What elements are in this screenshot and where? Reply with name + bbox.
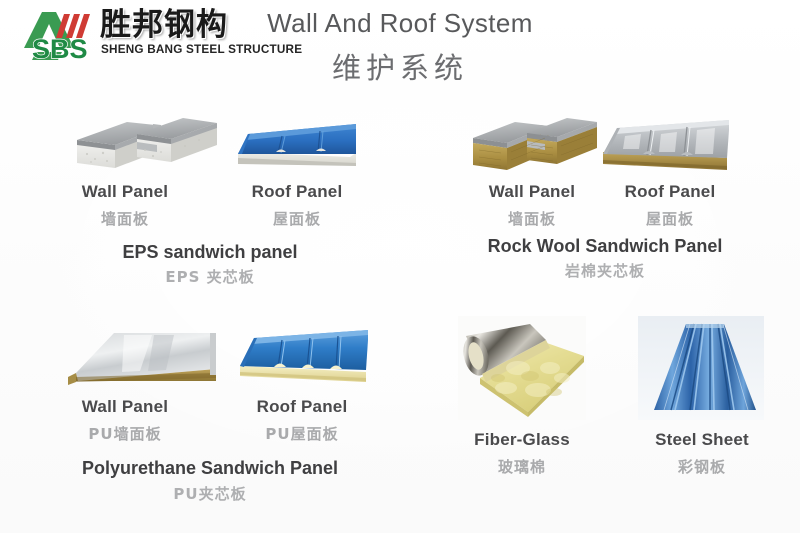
fiber-glass-image [458,316,586,420]
product-group-rockwool: Wall Panel 墙面板 Roof Panel 屋面板 Rock Wool … [410,0,800,290]
pu-roof-panel-image [234,326,374,392]
group-title-en-pu: Polyurethane Sandwich Panel [10,458,410,479]
caption-en-steel-sheet: Steel Sheet [622,430,782,450]
rockwool-roof-panel-image [595,116,735,182]
group-title-en-eps: EPS sandwich panel [20,242,400,263]
group-title-cn-pu: PU夹芯板 [10,483,410,504]
pu-wall-panel-image [62,325,220,391]
caption-cn-rockwool-wall: 墙面板 [452,208,612,229]
caption-cn-pu-wall: PU墙面板 [45,423,205,444]
caption-cn-eps-roof: 屋面板 [217,208,377,229]
caption-en-eps-roof: Roof Panel [217,182,377,202]
svg-text:18'-6" x 14': 18'-6" x 14' [307,289,332,300]
caption-en-fiber-glass: Fiber-Glass [442,430,602,450]
steel-sheet-image [638,316,764,420]
eps-wall-panel-image [65,112,220,182]
caption-cn-eps-wall: 墙面板 [45,208,205,229]
slide-canvas: GARAGE LIVING RM 18'-6" x 14' PORCH SECT… [0,0,800,533]
group-title-cn-rockwool: 岩棉夹芯板 [420,260,790,281]
caption-cn-fiber-glass: 玻璃棉 [442,456,602,477]
caption-en-pu-wall: Wall Panel [45,397,205,417]
caption-en-pu-roof: Roof Panel [222,397,382,417]
group-title-en-rockwool: Rock Wool Sandwich Panel [420,236,790,257]
eps-roof-panel-image [232,118,362,180]
rockwool-wall-panel-image [465,112,600,182]
product-group-pu: Wall Panel PU墙面板 Roof Panel PU屋面板 Polyur… [0,300,420,533]
caption-en-eps-wall: Wall Panel [45,182,205,202]
caption-cn-steel-sheet: 彩钢板 [622,456,782,477]
caption-en-rockwool-roof: Roof Panel [590,182,750,202]
group-title-cn-eps: EPS 夹芯板 [20,266,400,287]
caption-cn-pu-roof: PU屋面板 [222,423,382,444]
caption-en-rockwool-wall: Wall Panel [452,182,612,202]
product-group-materials: Fiber-Glass 玻璃棉 Steel Sheet 彩钢板 [410,300,800,533]
product-group-eps: Wall Panel 墙面板 Roof Panel 屋面板 EPS sandwi… [0,0,420,290]
caption-cn-rockwool-roof: 屋面板 [590,208,750,229]
